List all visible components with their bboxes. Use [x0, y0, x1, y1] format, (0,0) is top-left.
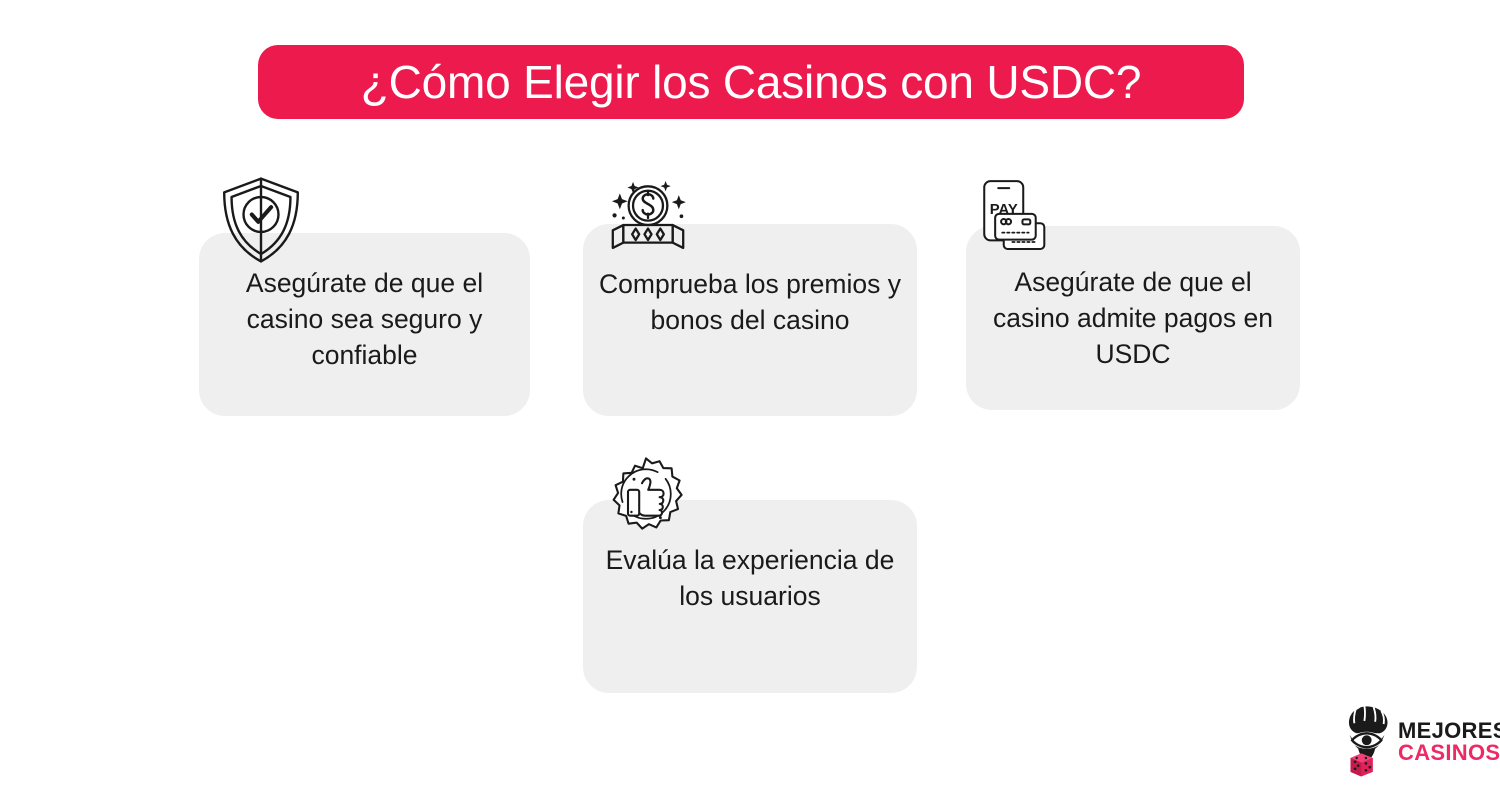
card-text-accepts-usdc: Asegúrate de que el casino admite pagos … — [966, 264, 1300, 372]
card-text-secure-reliable: Asegúrate de que el casino sea seguro y … — [199, 265, 530, 373]
eye-turban-dice-icon — [1341, 704, 1397, 778]
logo-line-casinos: CASINOS — [1398, 742, 1500, 764]
logo-wordmark: MEJORES CASINOS — [1398, 720, 1500, 765]
shield-check-icon — [215, 174, 307, 266]
card-text-prizes-bonuses: Comprueba los premios y bonos del casino — [583, 266, 917, 338]
phone-payment-icon: PAY — [978, 178, 1056, 256]
page-title: ¿Cómo Elegir los Casinos con USDC? — [361, 59, 1142, 105]
logo-line-mejores: MEJORES — [1398, 720, 1500, 742]
title-banner: ¿Cómo Elegir los Casinos con USDC? — [258, 45, 1244, 119]
brand-logo: MEJORES CASINOS — [1341, 702, 1493, 780]
card-text-user-experience: Evalúa la experiencia de los usuarios — [583, 542, 917, 614]
thumbs-up-badge-icon — [606, 456, 686, 536]
infographic-canvas: ¿Cómo Elegir los Casinos con USDC? Asegú… — [0, 0, 1500, 800]
coin-prize-icon — [604, 174, 692, 262]
